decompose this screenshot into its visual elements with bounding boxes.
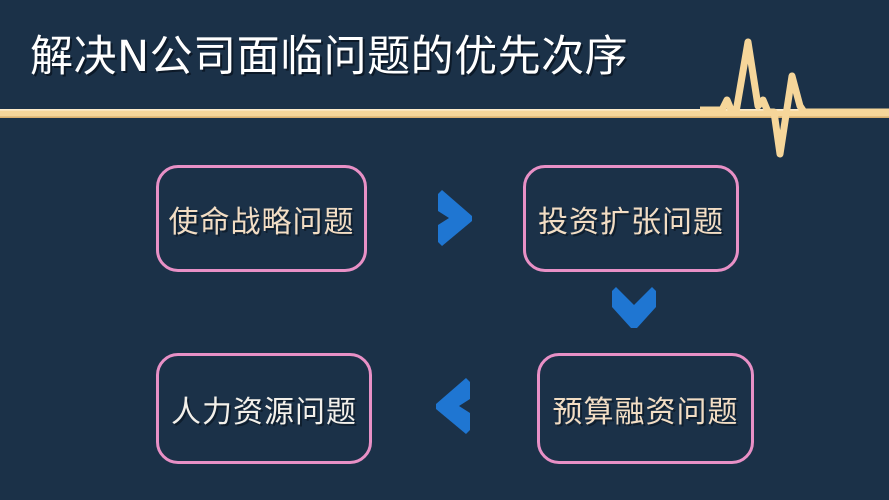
slide-canvas: 解决N公司面临问题的优先次序 使命战略问题 投资扩张问题 预算融资问题 人力资源… [0,0,889,500]
node-box-human-resources[interactable]: 人力资源问题 [156,353,372,464]
node-box-mission-strategy[interactable]: 使命战略问题 [156,165,367,272]
node-label-budget-financing: 预算融资问题 [553,387,739,431]
page-title: 解决N公司面临问题的优先次序 [30,30,628,84]
node-box-budget-financing[interactable]: 预算融资问题 [537,353,754,464]
node-label-investment-expansion: 投资扩张问题 [538,197,724,241]
chevron-right-icon [432,190,478,246]
node-label-mission-strategy: 使命战略问题 [169,197,355,241]
node-label-human-resources: 人力资源问题 [171,387,357,431]
node-box-investment-expansion[interactable]: 投资扩张问题 [523,165,739,272]
chevron-down-icon [608,287,660,331]
chevron-left-icon [430,378,476,434]
ekg-pulse-icon [700,14,889,166]
